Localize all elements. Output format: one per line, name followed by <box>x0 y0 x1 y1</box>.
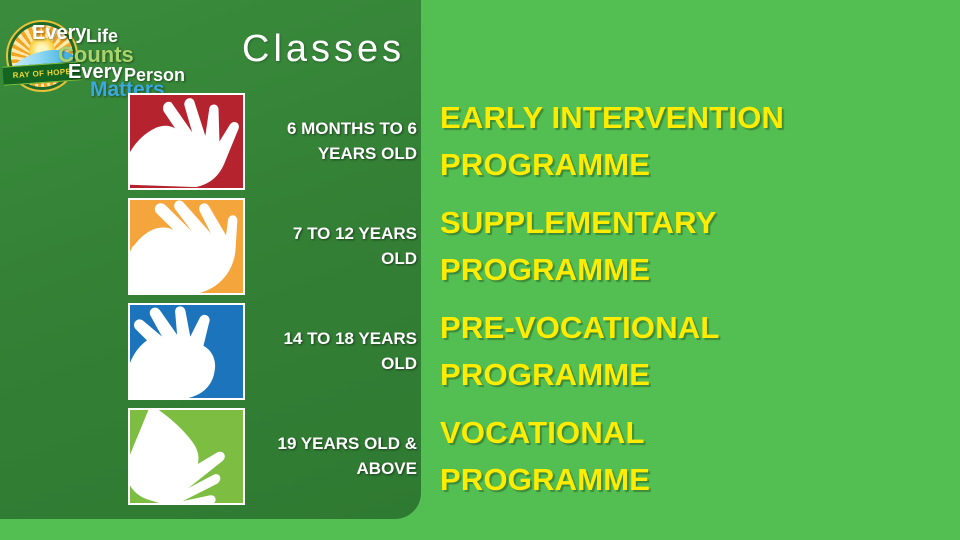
class-programme-line-1: SUPPLEMENTARY <box>440 201 940 245</box>
class-age-label: 7 TO 12 YEARS OLD <box>250 198 417 295</box>
class-tile-image <box>128 93 245 190</box>
class-programme-label: SUPPLEMENTARY PROGRAMME <box>440 198 940 295</box>
class-age-line-1: 7 TO 12 YEARS <box>293 222 417 247</box>
class-programme-line-2: PROGRAMME <box>440 248 940 292</box>
class-row: 19 YEARS OLD & ABOVE VOCATIONAL PROGRAMM… <box>0 408 960 513</box>
class-age-label: 6 MONTHS TO 6 YEARS OLD <box>250 93 417 190</box>
class-tile-image <box>128 303 245 400</box>
class-row: 14 TO 18 YEARS OLD PRE-VOCATIONAL PROGRA… <box>0 303 960 408</box>
class-programme-label: VOCATIONAL PROGRAMME <box>440 408 940 505</box>
class-programme-line-1: VOCATIONAL <box>440 411 940 455</box>
class-tile-image <box>128 198 245 295</box>
class-programme-line-2: PROGRAMME <box>440 353 940 397</box>
class-row: 6 MONTHS TO 6 YEARS OLD EARLY INTERVENTI… <box>0 93 960 198</box>
class-age-line-1: 14 TO 18 YEARS <box>283 327 417 352</box>
class-programme-line-1: PRE-VOCATIONAL <box>440 306 940 350</box>
class-row: 7 TO 12 YEARS OLD SUPPLEMENTARY PROGRAMM… <box>0 198 960 303</box>
class-programme-label: EARLY INTERVENTION PROGRAMME <box>440 93 940 190</box>
class-programme-line-1: EARLY INTERVENTION <box>440 96 940 140</box>
class-age-line-2: OLD <box>381 352 417 377</box>
class-tile-image <box>128 408 245 505</box>
slide-canvas: RAY OF HOPE Every Life Counts Every Pers… <box>0 0 960 540</box>
class-age-line-2: ABOVE <box>357 457 417 482</box>
two-hands-icon <box>130 200 243 293</box>
class-age-line-2: OLD <box>381 247 417 272</box>
class-age-label: 14 TO 18 YEARS OLD <box>250 303 417 400</box>
class-age-label: 19 YEARS OLD & ABOVE <box>250 408 417 505</box>
class-age-line-2: YEARS OLD <box>318 142 417 167</box>
two-hands-icon <box>130 95 243 188</box>
two-hands-icon <box>130 305 243 398</box>
page-title: Classes <box>242 28 405 71</box>
class-programme-line-2: PROGRAMME <box>440 458 940 502</box>
class-programme-label: PRE-VOCATIONAL PROGRAMME <box>440 303 940 400</box>
tagline-block: Every Life Counts Every Person Matters <box>24 12 224 92</box>
class-programme-line-2: PROGRAMME <box>440 143 940 187</box>
two-hands-icon <box>130 410 243 503</box>
class-age-line-1: 6 MONTHS TO 6 <box>287 117 417 142</box>
class-age-line-1: 19 YEARS OLD & <box>277 432 417 457</box>
